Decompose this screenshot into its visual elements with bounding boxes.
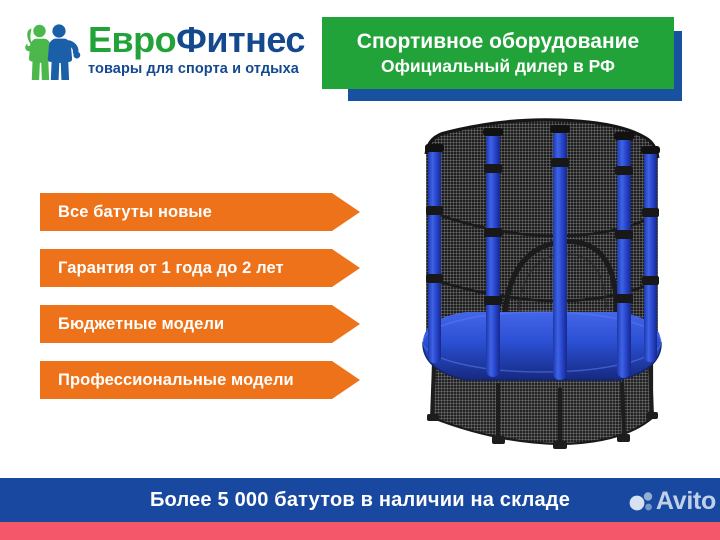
- header-banner-line-1: Спортивное оборудование: [357, 29, 639, 55]
- feature-badge-list: Все батуты новые Гарантия от 1 года до 2…: [40, 193, 370, 417]
- feature-badge-label: Гарантия от 1 года до 2 лет: [58, 249, 284, 287]
- header-banner-line-2: Официальный дилер в РФ: [381, 55, 615, 77]
- logo-word-evro: Евро: [88, 19, 176, 60]
- header-banner: Спортивное оборудование Официальный диле…: [322, 17, 682, 101]
- feature-badge-label: Бюджетные модели: [58, 305, 224, 343]
- logo-main-text: ЕвроФитнес: [88, 20, 328, 60]
- athletes-icon: [18, 22, 84, 80]
- feature-badge-label: Профессиональные модели: [58, 361, 294, 399]
- avito-watermark: Avito: [628, 484, 716, 518]
- avito-label: Avito: [656, 488, 716, 514]
- avito-logo-icon: [628, 488, 654, 514]
- feature-badge: Профессиональные модели: [40, 361, 370, 399]
- trampoline-image: unix: [408, 118, 708, 468]
- header-banner-body: Спортивное оборудование Официальный диле…: [322, 17, 674, 89]
- feature-badge: Бюджетные модели: [40, 305, 370, 343]
- brand-logo: ЕвроФитнес товары для спорта и отдыха: [18, 22, 318, 90]
- footer-accent-strip: [0, 522, 720, 540]
- footer-headline: Более 5 000 батутов в наличии на складе: [150, 489, 570, 512]
- logo-word-fitnes: Фитнес: [176, 19, 305, 60]
- logo-tagline: товары для спорта и отдыха: [88, 61, 328, 78]
- promo-banner-image: ЕвроФитнес товары для спорта и отдыха Сп…: [0, 0, 720, 540]
- feature-badge-label: Все батуты новые: [58, 193, 212, 231]
- feature-badge: Все батуты новые: [40, 193, 370, 231]
- footer-banner: Более 5 000 батутов в наличии на складе: [0, 478, 720, 522]
- logo-wordmark: ЕвроФитнес товары для спорта и отдыха: [88, 20, 328, 78]
- feature-badge: Гарантия от 1 года до 2 лет: [40, 249, 370, 287]
